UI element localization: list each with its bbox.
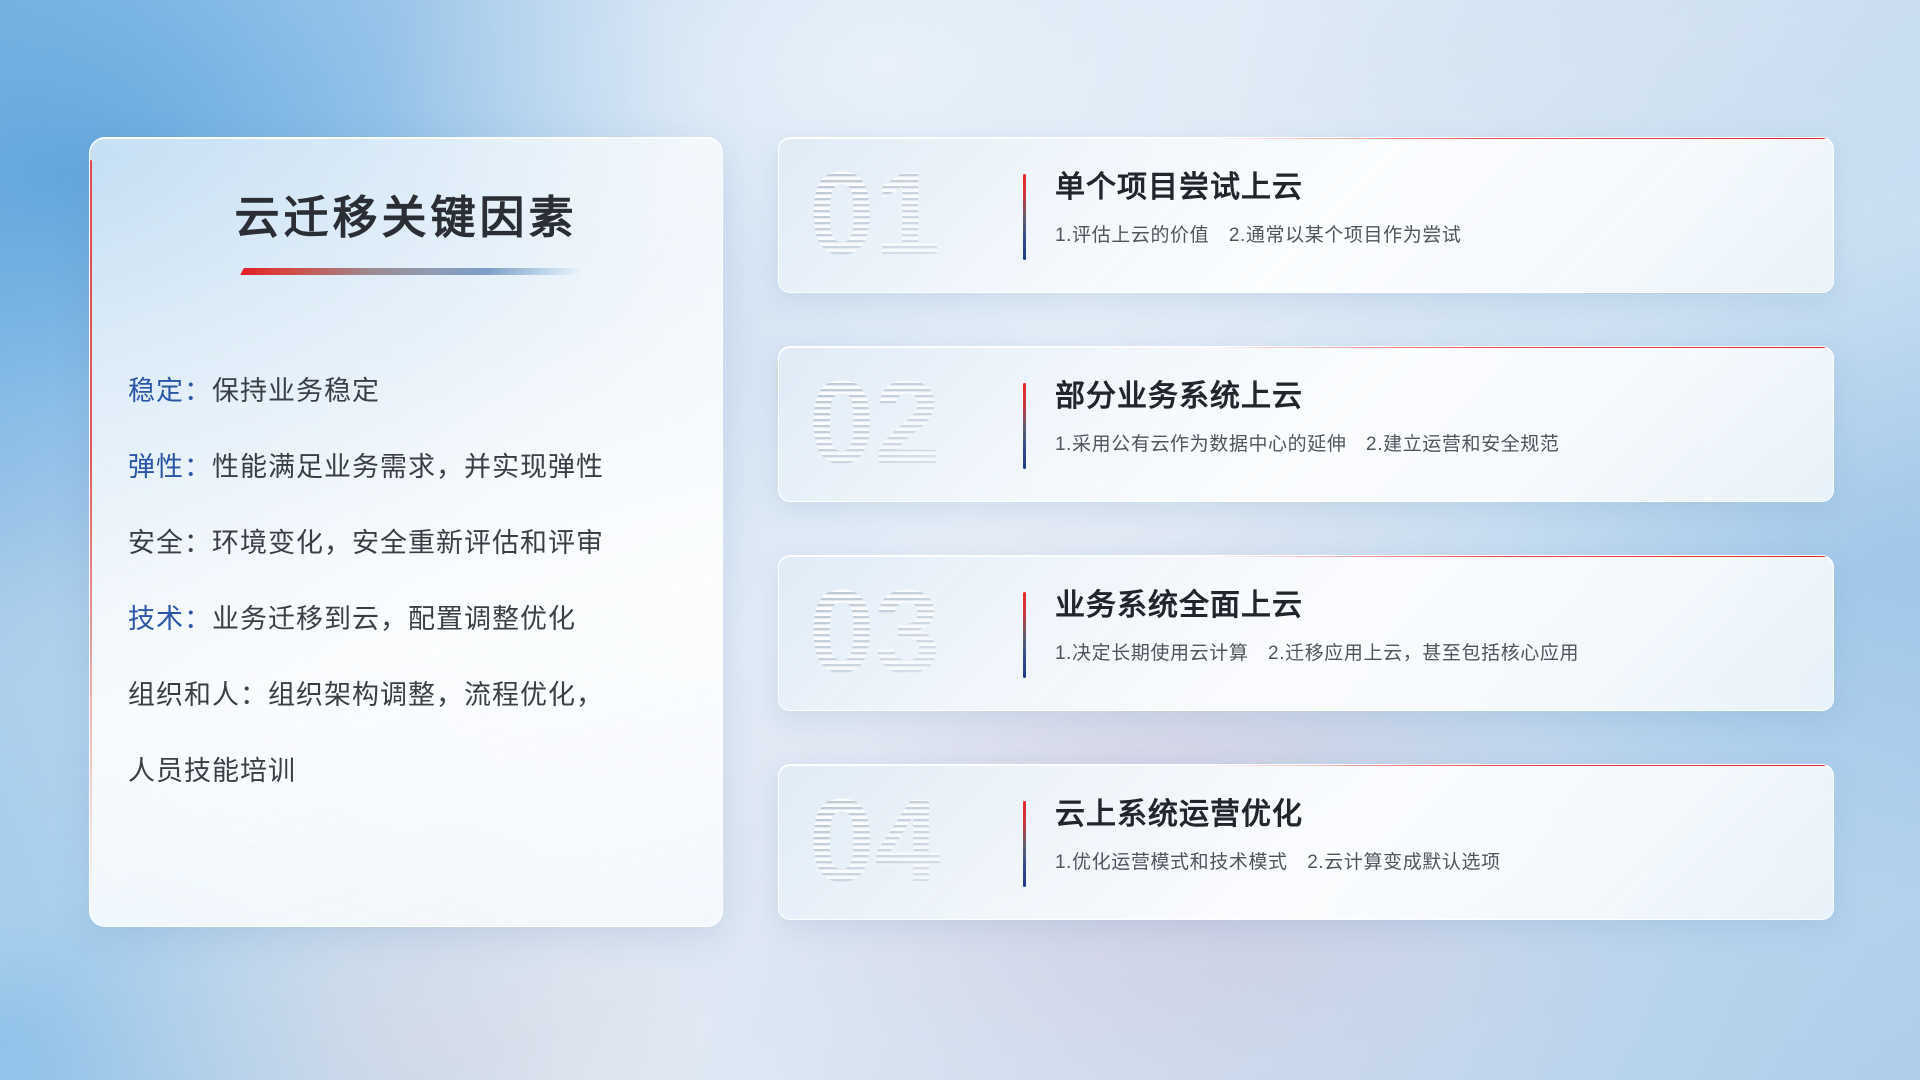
- card-body: 部分业务系统上云 1.采用公有云作为数据中心的延伸 2.建立运营和安全规范: [1055, 375, 1799, 459]
- stage-number-icon: 04: [809, 777, 1009, 909]
- list-item: 弹性：性能满足业务需求，并实现弹性: [128, 429, 692, 505]
- stage-card[interactable]: 02 部分业务系统上云 1.采用公有云作为数据中心的延伸 2.建立运营和安全规范: [778, 346, 1834, 502]
- page-title: 云迁移关键因素: [90, 181, 722, 246]
- card-accent-divider: [1023, 174, 1026, 260]
- factor-label: 弹性：: [128, 452, 212, 482]
- factor-text: 保持业务稳定: [212, 376, 380, 406]
- card-body: 单个项目尝试上云 1.评估上云的价值 2.通常以某个项目作为尝试: [1055, 166, 1799, 250]
- card-title: 单个项目尝试上云: [1055, 166, 1799, 210]
- stage-number-glyph: 02: [809, 359, 940, 489]
- title-underline-accent: [240, 268, 584, 275]
- card-body: 云上系统运营优化 1.优化运营模式和技术模式 2.云计算变成默认选项: [1055, 793, 1799, 877]
- list-item: 安全：环境变化，安全重新评估和评审: [128, 505, 692, 581]
- factor-label: 技术：: [128, 604, 212, 634]
- list-item: 技术：业务迁移到云，配置调整优化: [128, 581, 692, 657]
- stage-card-list: 01 单个项目尝试上云 1.评估上云的价值 2.通常以某个项目作为尝试: [778, 137, 1834, 973]
- card-body: 业务系统全面上云 1.决定长期使用云计算 2.迁移应用上云，甚至包括核心应用: [1055, 584, 1799, 668]
- card-subtitle: 1.优化运营模式和技术模式 2.云计算变成默认选项: [1055, 849, 1799, 877]
- card-subtitle: 1.采用公有云作为数据中心的延伸 2.建立运营和安全规范: [1055, 431, 1799, 459]
- card-title: 云上系统运营优化: [1055, 793, 1799, 837]
- card-subtitle: 1.评估上云的价值 2.通常以某个项目作为尝试: [1055, 222, 1799, 250]
- list-item: 人员技能培训: [128, 733, 692, 809]
- card-title: 业务系统全面上云: [1055, 584, 1799, 628]
- card-title: 部分业务系统上云: [1055, 375, 1799, 419]
- factor-label: 安全：: [128, 528, 212, 558]
- card-accent-divider: [1023, 383, 1026, 469]
- stage-number-icon: 03: [809, 568, 1009, 700]
- factor-label: 稳定：: [128, 376, 212, 406]
- stage-number-icon: 01: [809, 150, 1009, 282]
- card-accent-divider: [1023, 592, 1026, 678]
- factor-text: 性能满足业务需求，并实现弹性: [212, 452, 604, 482]
- stage-card[interactable]: 04 云上系统运营优化 1.优化运营模式和技术模式 2.云计算变成默认选项: [778, 764, 1834, 920]
- list-item: 组织和人：组织架构调整，流程优化，: [128, 657, 692, 733]
- card-accent-divider: [1023, 801, 1026, 887]
- factor-list: 稳定：保持业务稳定 弹性：性能满足业务需求，并实现弹性 安全：环境变化，安全重新…: [128, 353, 692, 809]
- list-item: 稳定：保持业务稳定: [128, 353, 692, 429]
- stage-number-glyph: 03: [809, 568, 940, 698]
- card-subtitle: 1.决定长期使用云计算 2.迁移应用上云，甚至包括核心应用: [1055, 640, 1799, 668]
- factor-text: 组织架构调整，流程优化，: [268, 680, 604, 710]
- factor-text: 业务迁移到云，配置调整优化: [212, 604, 576, 634]
- key-factors-panel: 云迁移关键因素 稳定：保持业务稳定 弹性：性能满足业务需求，并实现弹性 安全：环…: [89, 137, 723, 927]
- stage-number-icon: 02: [809, 359, 1009, 491]
- stage-number-glyph: 04: [809, 777, 940, 907]
- stage-card[interactable]: 03 业务系统全面上云 1.决定长期使用云计算 2.迁移应用上云，甚至包括核心应…: [778, 555, 1834, 711]
- factor-text: 人员技能培训: [128, 756, 296, 786]
- stage-card[interactable]: 01 单个项目尝试上云 1.评估上云的价值 2.通常以某个项目作为尝试: [778, 137, 1834, 293]
- factor-label: 组织和人：: [128, 680, 268, 710]
- stage-number-glyph: 01: [809, 150, 940, 280]
- factor-text: 环境变化，安全重新评估和评审: [212, 528, 604, 558]
